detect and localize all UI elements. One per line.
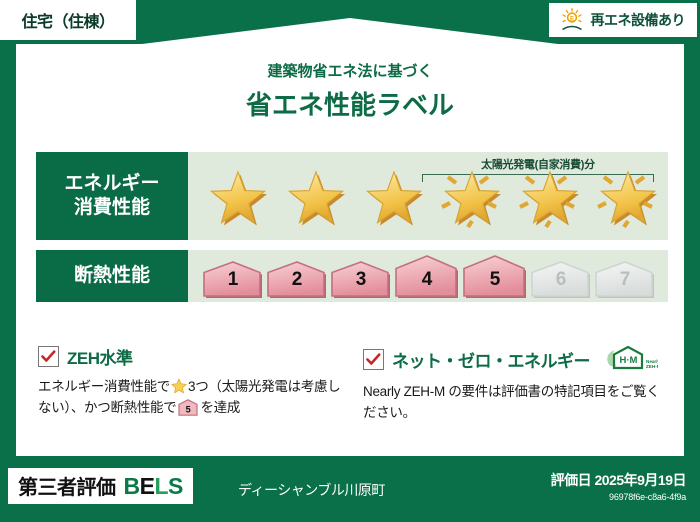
zeh-checkbox bbox=[38, 346, 59, 367]
insulation-grade-1: 1 bbox=[202, 260, 264, 298]
insulation-grades-panel: 1234567 bbox=[188, 250, 668, 302]
building-type-label: 住宅（住棟） bbox=[21, 8, 114, 32]
zeh-description: エネルギー消費性能で3つ（太陽光発電は考慮しない）、かつ断熱性能で5を達成 bbox=[38, 377, 345, 419]
star-icon bbox=[200, 165, 276, 235]
insulation-grade-2: 2 bbox=[266, 260, 328, 298]
insulation-performance-row: 断熱性能 1234567 bbox=[36, 250, 668, 302]
insulation-grade-4: 4 bbox=[394, 254, 460, 298]
star-icon bbox=[434, 165, 510, 235]
star-rating bbox=[188, 165, 666, 235]
energy-performance-label-box: エネルギー 消費性能 bbox=[36, 152, 188, 240]
label-footer: 第三者評価 BELS ディーシャンブル川原町 評価日 2025年9月19日 96… bbox=[0, 460, 700, 522]
label-title-block: 建築物省エネ法に基づく 省エネ性能ラベル bbox=[16, 60, 684, 122]
bels-letter-b: B bbox=[124, 473, 140, 499]
evaluation-id: 96978f6e-c8a6-4f9a bbox=[551, 492, 686, 502]
bels-letter-l: L bbox=[154, 473, 168, 499]
zeh-m-logo-icon: H·M Nearly ZEH-M bbox=[602, 344, 658, 374]
inline-house-grade-value: 5 bbox=[186, 405, 191, 415]
insulation-grade-7: 7 bbox=[594, 260, 656, 298]
renewable-equipment-badge: E 再エネ設備あり bbox=[549, 3, 698, 37]
label-card: 建築物省エネ法に基づく 省エネ性能ラベル エネルギー 消費性能 太陽光発電(自家… bbox=[14, 44, 686, 458]
performance-rows: エネルギー 消費性能 太陽光発電(自家消費)分 断熱性能 bbox=[36, 152, 668, 312]
star-icon bbox=[512, 165, 588, 235]
insulation-grade-value: 6 bbox=[530, 269, 592, 291]
insulation-grade-5: 5 bbox=[462, 254, 528, 298]
star-solar-6 bbox=[590, 165, 666, 235]
insulation-grade-3: 3 bbox=[330, 260, 392, 298]
criterion-net-zero-energy: ネット・ゼロ・エネルギー H·M Nearly ZEH-M Nearly ZEH… bbox=[363, 344, 670, 424]
insulation-grade-value: 1 bbox=[202, 269, 264, 291]
insulation-label-box: 断熱性能 bbox=[36, 250, 188, 302]
building-type-tab: 住宅（住棟） bbox=[0, 0, 136, 40]
energy-stars-panel: 太陽光発電(自家消費)分 bbox=[188, 152, 668, 240]
renewable-equipment-label: 再エネ設備あり bbox=[591, 10, 686, 30]
insulation-grade-value: 2 bbox=[266, 269, 328, 291]
inline-house-grade-icon: 5 bbox=[178, 399, 198, 416]
bels-letter-e: E bbox=[140, 473, 155, 499]
star-3 bbox=[356, 165, 432, 235]
svg-text:E: E bbox=[569, 16, 573, 22]
zeh-desc-part1: エネルギー消費性能で bbox=[38, 379, 170, 394]
bels-certification-box: 第三者評価 BELS bbox=[8, 468, 193, 504]
energy-label-line2: 消費性能 bbox=[74, 196, 150, 220]
star-icon bbox=[590, 165, 666, 235]
star-icon bbox=[356, 165, 432, 235]
star-solar-4 bbox=[434, 165, 510, 235]
third-party-label: 第三者評価 bbox=[18, 471, 116, 500]
zeh-m-logo-text: H·M bbox=[620, 355, 638, 366]
energy-label-line1: エネルギー bbox=[64, 172, 159, 196]
star-2 bbox=[278, 165, 354, 235]
insulation-grade-value: 5 bbox=[462, 269, 528, 291]
inline-star-icon bbox=[171, 378, 187, 394]
bels-wordmark: BELS bbox=[124, 473, 183, 500]
title-main: 省エネ性能ラベル bbox=[16, 85, 684, 122]
evaluation-info: 評価日 2025年9月19日 96978f6e-c8a6-4f9a bbox=[551, 470, 686, 502]
bels-letter-s: S bbox=[168, 473, 183, 499]
energy-performance-row: エネルギー 消費性能 太陽光発電(自家消費)分 bbox=[36, 152, 668, 240]
nze-title: ネット・ゼロ・エネルギー bbox=[392, 347, 590, 372]
title-subtitle: 建築物省エネ法に基づく bbox=[16, 60, 684, 81]
check-icon bbox=[366, 353, 381, 366]
evaluation-date: 評価日 2025年9月19日 bbox=[551, 470, 686, 490]
nze-checkbox bbox=[363, 349, 384, 370]
insulation-label: 断熱性能 bbox=[74, 264, 150, 288]
star-solar-5 bbox=[512, 165, 588, 235]
zeh-title: ZEH水準 bbox=[67, 344, 133, 369]
solar-sun-icon: E bbox=[559, 7, 585, 33]
insulation-grade-value: 7 bbox=[594, 269, 656, 291]
energy-performance-label: 住宅（住棟） E 再エネ設備あり 建築物省エネ法に基づく 省エネ性能ラベル bbox=[0, 0, 700, 522]
insulation-grade-scale: 1234567 bbox=[202, 254, 656, 298]
insulation-grade-value: 3 bbox=[330, 269, 392, 291]
check-icon bbox=[41, 350, 56, 363]
insulation-grade-value: 4 bbox=[394, 269, 460, 291]
star-icon bbox=[278, 165, 354, 235]
criteria-section: ZEH水準 エネルギー消費性能で3つ（太陽光発電は考慮しない）、かつ断熱性能で5… bbox=[38, 344, 670, 424]
star-1 bbox=[200, 165, 276, 235]
criterion-zeh: ZEH水準 エネルギー消費性能で3つ（太陽光発電は考慮しない）、かつ断熱性能で5… bbox=[38, 344, 345, 424]
building-name: ディーシャンブル川原町 bbox=[238, 480, 385, 500]
nze-description: Nearly ZEH-M の要件は評価書の特記項目をご覧ください。 bbox=[363, 382, 670, 424]
zeh-m-logo-sub2: ZEH-M bbox=[646, 364, 658, 369]
insulation-grade-6: 6 bbox=[530, 260, 592, 298]
zeh-desc-part3: を達成 bbox=[200, 400, 240, 415]
